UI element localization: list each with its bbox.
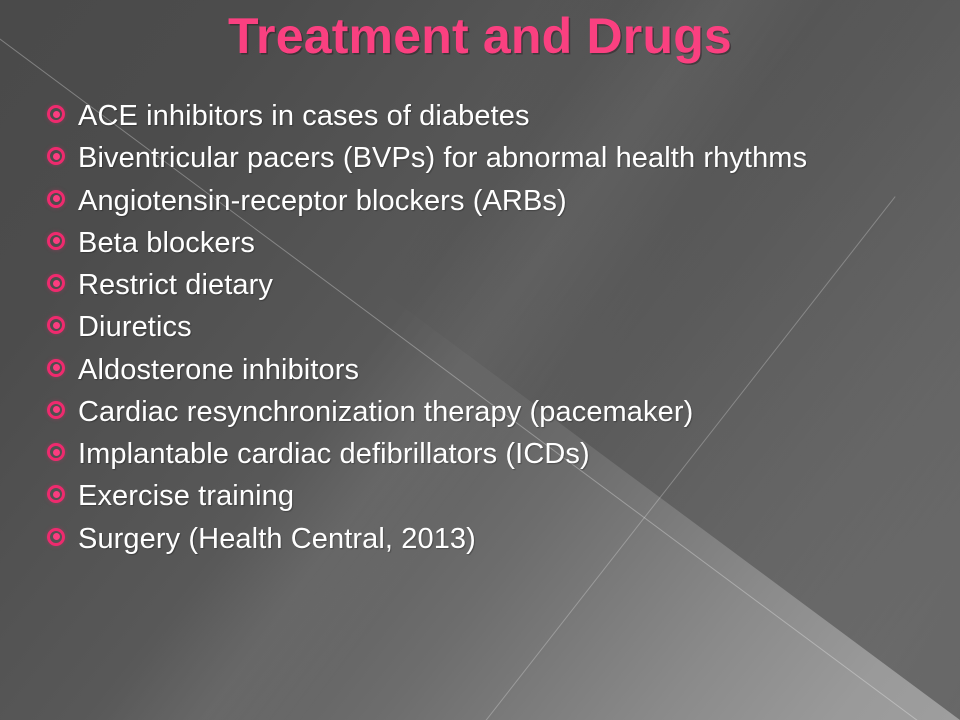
list-item: Cardiac resynchronization therapy (pacem… [0, 393, 920, 431]
slide-content: Treatment and Drugs ACE inhibitors in ca… [0, 0, 960, 720]
list-item-label: Aldosterone inhibitors [78, 351, 878, 389]
list-item: Exercise training [0, 477, 920, 515]
list-item: ACE inhibitors in cases of diabetes [0, 97, 920, 135]
list-item-label: Angiotensin-receptor blockers (ARBs) [78, 182, 878, 220]
list-item: Angiotensin-receptor blockers (ARBs) [0, 182, 920, 220]
list-item-label: Biventricular pacers (BVPs) for abnormal… [78, 139, 878, 177]
list-item: Restrict dietary [0, 266, 920, 304]
list-item-label: Restrict dietary [78, 266, 878, 304]
list-item-label: Cardiac resynchronization therapy (pacem… [78, 393, 878, 431]
list-item-label: Implantable cardiac defibrillators (ICDs… [78, 435, 878, 473]
list-item: Diuretics [0, 308, 920, 346]
list-item: Biventricular pacers (BVPs) for abnormal… [0, 139, 920, 177]
target-bullet-icon [47, 274, 65, 292]
list-item-label: Diuretics [78, 308, 878, 346]
target-bullet-icon [47, 105, 65, 123]
list-item-label: Surgery (Health Central, 2013) [78, 520, 878, 558]
target-bullet-icon [47, 147, 65, 165]
list-item: Surgery (Health Central, 2013) [0, 520, 920, 558]
target-bullet-icon [47, 401, 65, 419]
target-bullet-icon [47, 528, 65, 546]
presentation-slide: Treatment and Drugs ACE inhibitors in ca… [0, 0, 960, 720]
list-item-label: Beta blockers [78, 224, 878, 262]
list-item: Implantable cardiac defibrillators (ICDs… [0, 435, 920, 473]
list-item: Beta blockers [0, 224, 920, 262]
list-item-label: ACE inhibitors in cases of diabetes [78, 97, 878, 135]
target-bullet-icon [47, 485, 65, 503]
target-bullet-icon [47, 443, 65, 461]
target-bullet-icon [47, 359, 65, 377]
target-bullet-icon [47, 190, 65, 208]
bullet-list: ACE inhibitors in cases of diabetes Bive… [0, 97, 920, 562]
target-bullet-icon [47, 316, 65, 334]
slide-title: Treatment and Drugs [0, 8, 960, 64]
list-item: Aldosterone inhibitors [0, 351, 920, 389]
target-bullet-icon [47, 232, 65, 250]
list-item-label: Exercise training [78, 477, 878, 515]
